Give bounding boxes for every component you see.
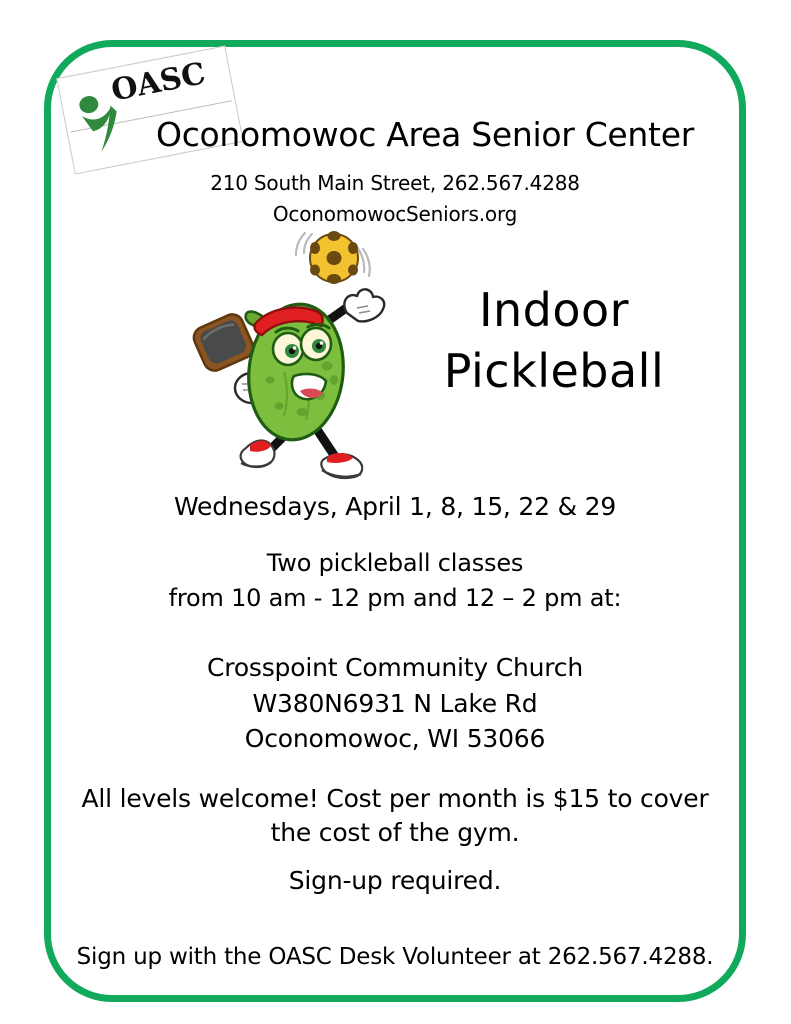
left-shoe bbox=[241, 441, 275, 468]
venue-name: Crosspoint Community Church bbox=[44, 650, 746, 686]
cost-note-line-2: the cost of the gym. bbox=[66, 816, 724, 850]
venue-address: Crosspoint Community Church W380N6931 N … bbox=[44, 650, 746, 757]
flyer-content: OASC Oconomowoc Area Senior Center 210 S… bbox=[44, 40, 746, 1002]
right-shoe bbox=[321, 453, 362, 478]
headline-line-1: Indoor bbox=[479, 283, 629, 337]
venue-city-state-zip: Oconomowoc, WI 53066 bbox=[44, 721, 746, 757]
cost-note-line-1: All levels welcome! Cost per month is $1… bbox=[66, 782, 724, 816]
cost-note: All levels welcome! Cost per month is $1… bbox=[44, 782, 746, 849]
headline-line-2: Pickleball bbox=[374, 341, 734, 402]
signup-required-note: Sign-up required. bbox=[44, 866, 746, 895]
event-dates: Wednesdays, April 1, 8, 15, 22 & 29 bbox=[44, 492, 746, 521]
organization-address: 210 South Main Street, 262.567.4288 bbox=[44, 171, 746, 195]
oasc-logo: OASC bbox=[56, 45, 244, 174]
venue-street: W380N6931 N Lake Rd bbox=[44, 686, 746, 722]
pickleball-ball bbox=[310, 231, 358, 284]
organization-title: Oconomowoc Area Senior Center bbox=[44, 118, 746, 151]
class-times-line-1: Two pickleball classes bbox=[44, 546, 746, 581]
class-times-line-2: from 10 am - 12 pm and 12 – 2 pm at: bbox=[44, 581, 746, 616]
event-headline: Indoor Pickleball bbox=[374, 280, 734, 401]
signup-instructions: Sign up with the OASC Desk Volunteer at … bbox=[44, 944, 746, 970]
class-times: Two pickleball classes from 10 am - 12 p… bbox=[44, 546, 746, 616]
flyer-page: OASC Oconomowoc Area Senior Center 210 S… bbox=[0, 0, 791, 1024]
